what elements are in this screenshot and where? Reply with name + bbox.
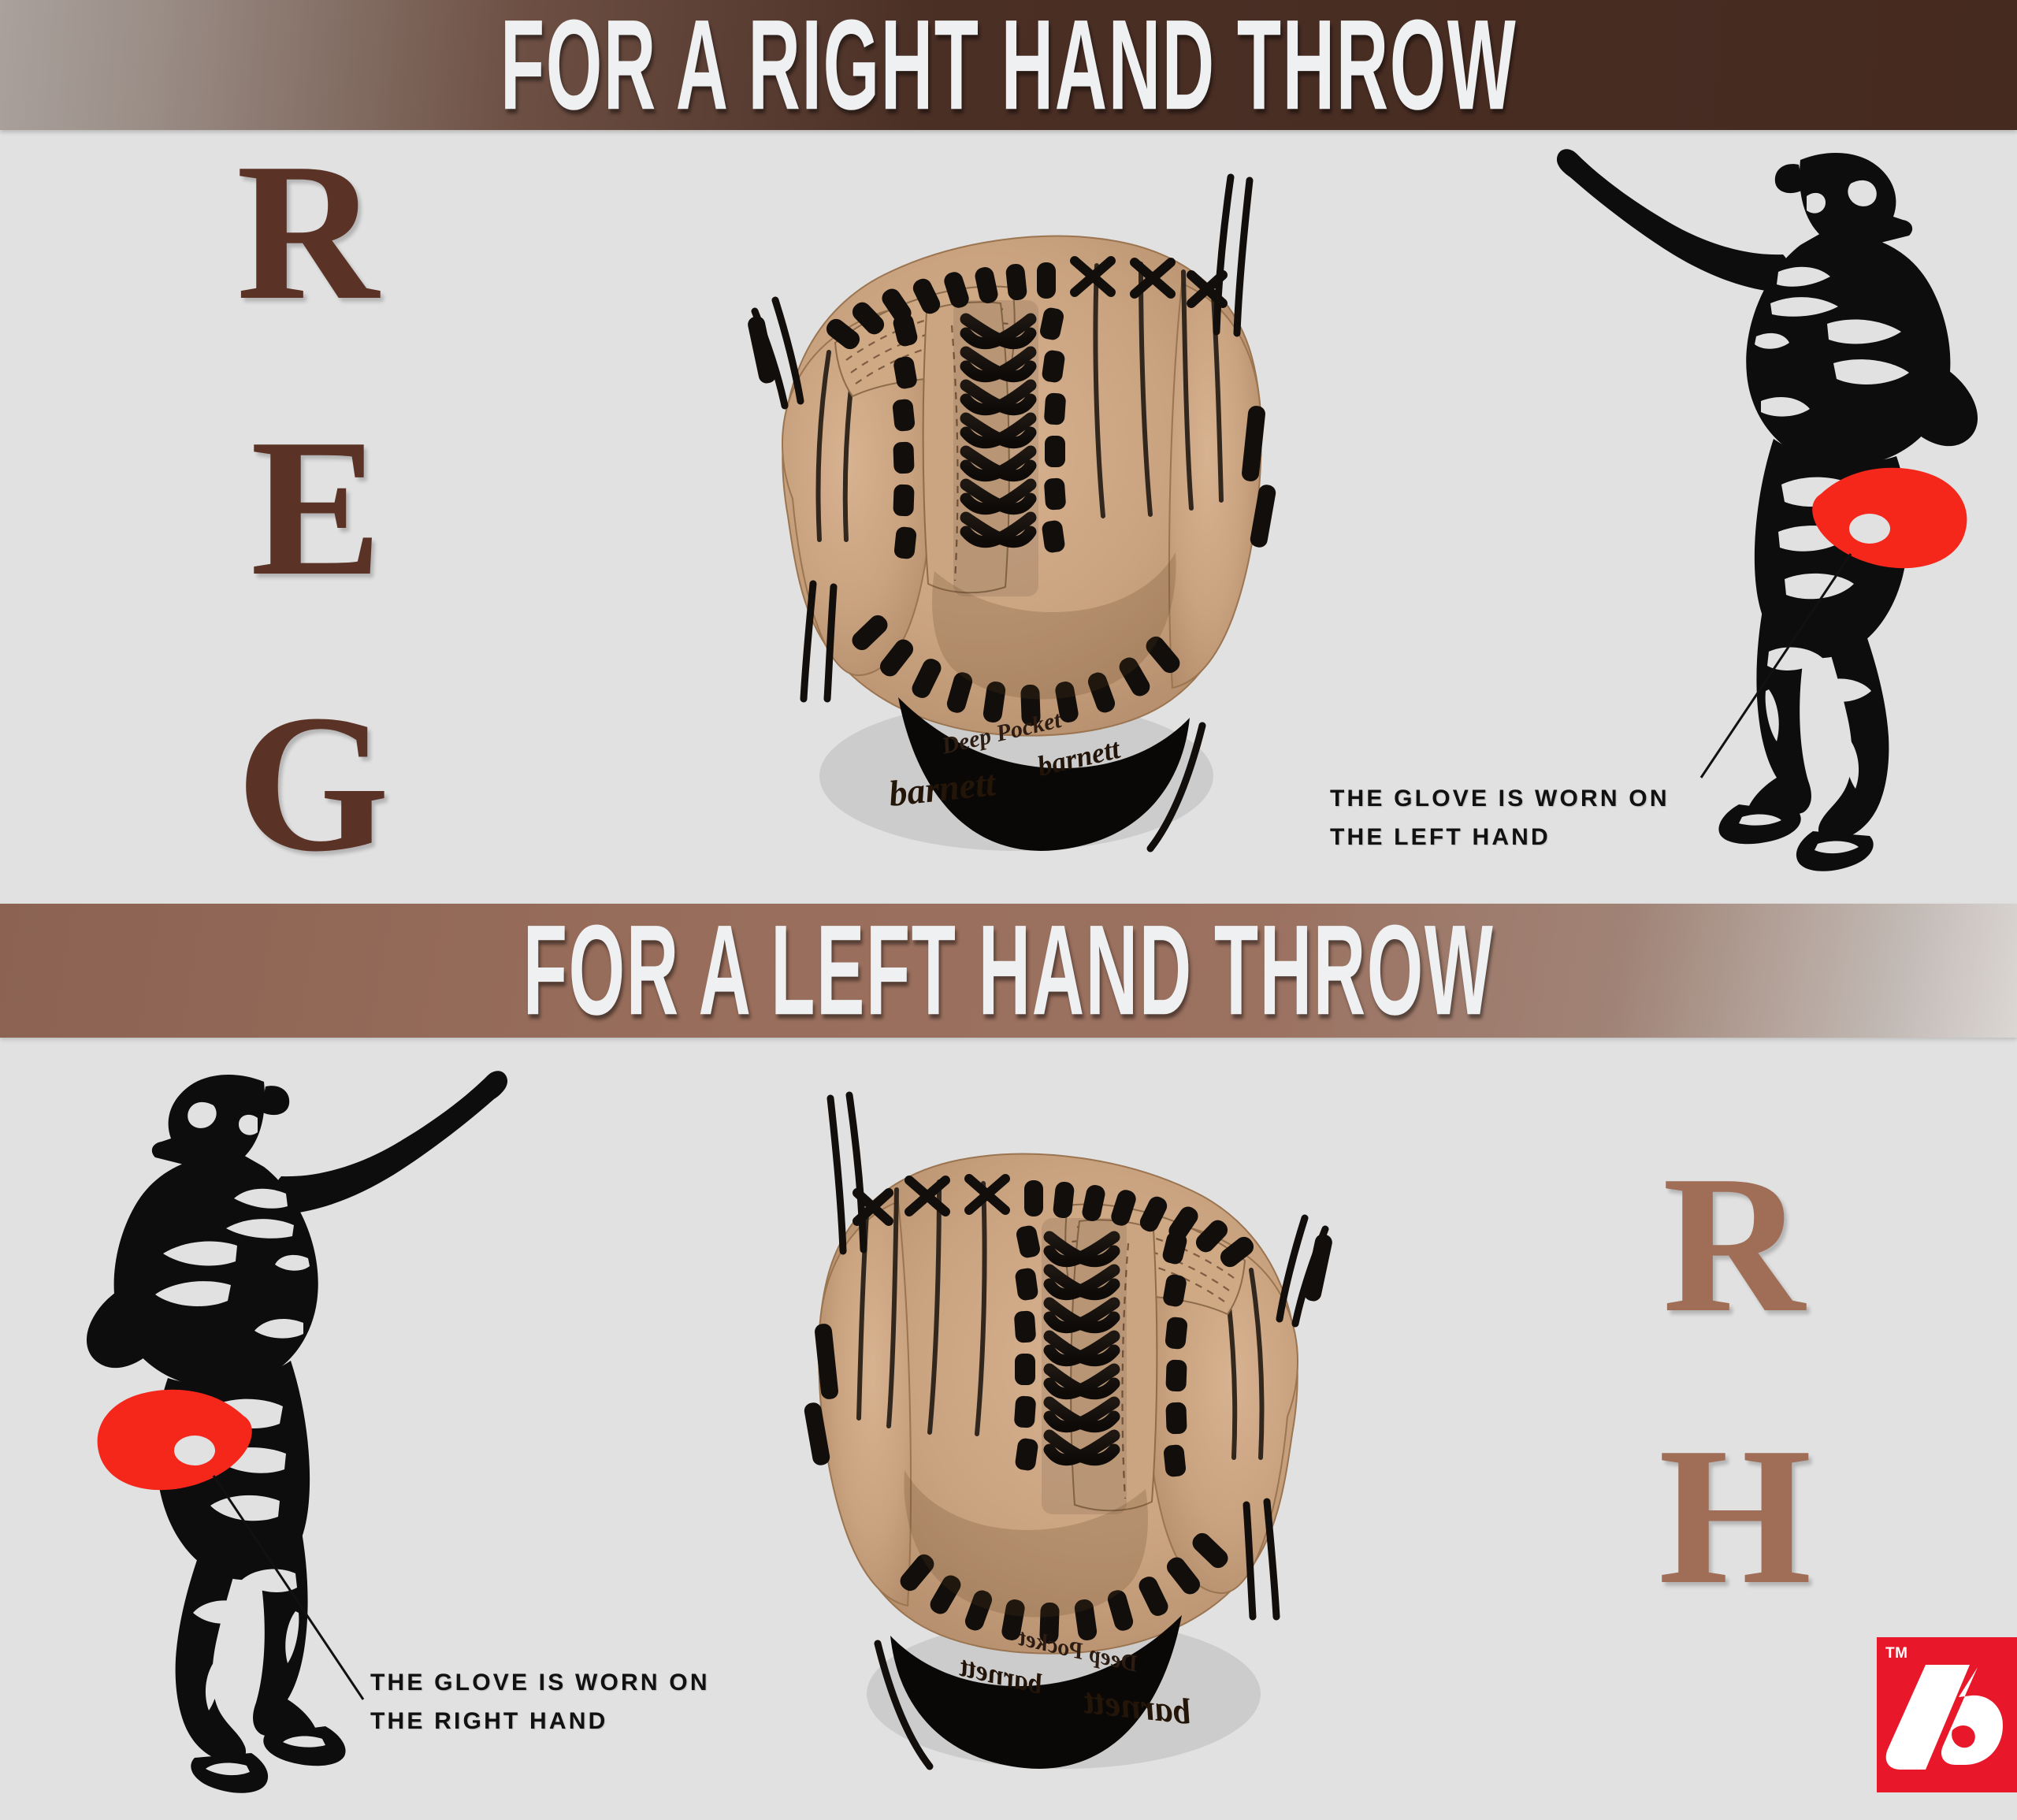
banner-right-hand-throw: FOR A RIGHT HAND THROW xyxy=(0,0,2017,130)
banner-title-left-hand-throw: FOR A LEFT HAND THROW xyxy=(523,907,1495,1035)
big-letter-r-2: R xyxy=(1662,1146,1805,1343)
barnett-logo: TM xyxy=(1877,1637,2017,1792)
big-letter-r: R xyxy=(236,134,379,331)
big-letter-g: G xyxy=(236,685,389,882)
caption-glove-worn-right-hand: THE GLOVE IS WORN ON THE RIGHT HAND xyxy=(370,1664,710,1740)
trademark-symbol: TM xyxy=(1885,1645,1907,1662)
big-letter-h: H xyxy=(1659,1418,1811,1615)
banner-title-right-hand-throw: FOR A RIGHT HAND THROW xyxy=(500,1,1517,129)
big-letter-e: E xyxy=(251,410,382,607)
baseball-glove-left-hand-throw: Deep Pocket barnett barnett xyxy=(788,1060,1339,1788)
banner-left-hand-throw: FOR A LEFT HAND THROW xyxy=(0,904,2017,1038)
caption-glove-worn-left-hand: THE GLOVE IS WORN ON THE LEFT HAND xyxy=(1330,780,1670,856)
baseball-glove-right-hand-throw: Deep Pocket barnett barnett xyxy=(741,146,1292,867)
